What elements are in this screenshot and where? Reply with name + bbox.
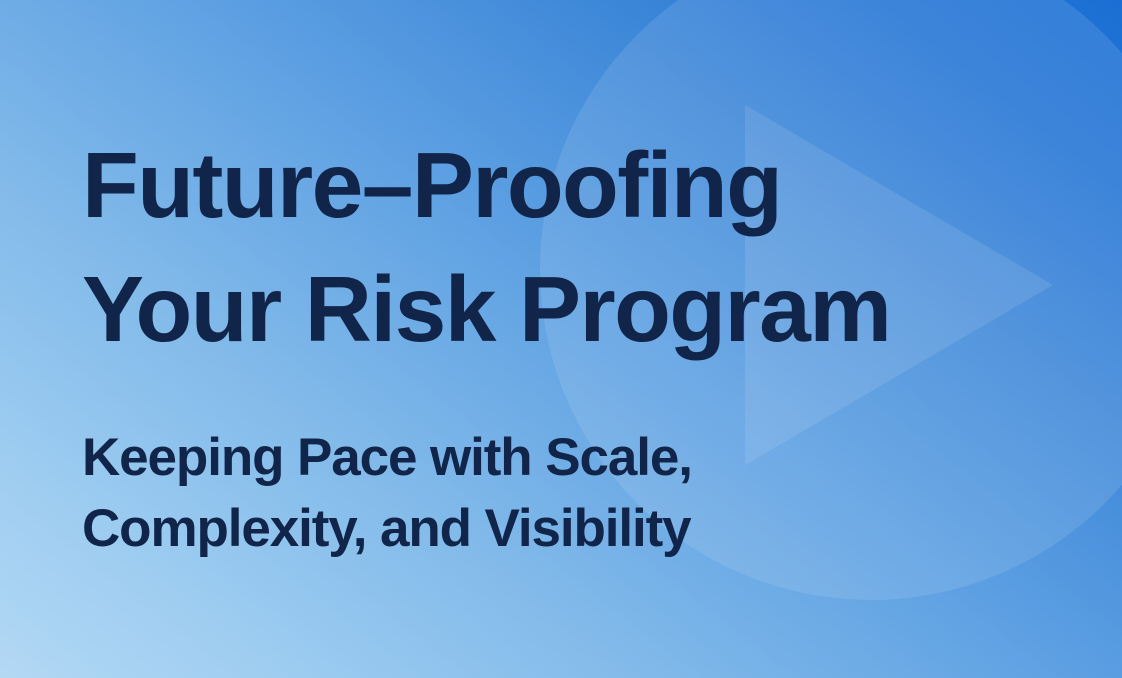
slide-subtitle: Keeping Pace with Scale, Complexity, and… bbox=[82, 423, 1062, 564]
title-slide: Future–Proofing Your Risk Program Keepin… bbox=[0, 0, 1122, 678]
slide-subtitle-line-2: Complexity, and Visibility bbox=[82, 494, 1062, 564]
text-block: Future–Proofing Your Risk Program Keepin… bbox=[82, 124, 1062, 564]
slide-title-line-2: Your Risk Program bbox=[82, 248, 1062, 372]
slide-title: Future–Proofing Your Risk Program bbox=[82, 124, 1062, 371]
slide-subtitle-line-1: Keeping Pace with Scale, bbox=[82, 423, 1062, 493]
slide-title-line-1: Future–Proofing bbox=[82, 124, 1062, 248]
